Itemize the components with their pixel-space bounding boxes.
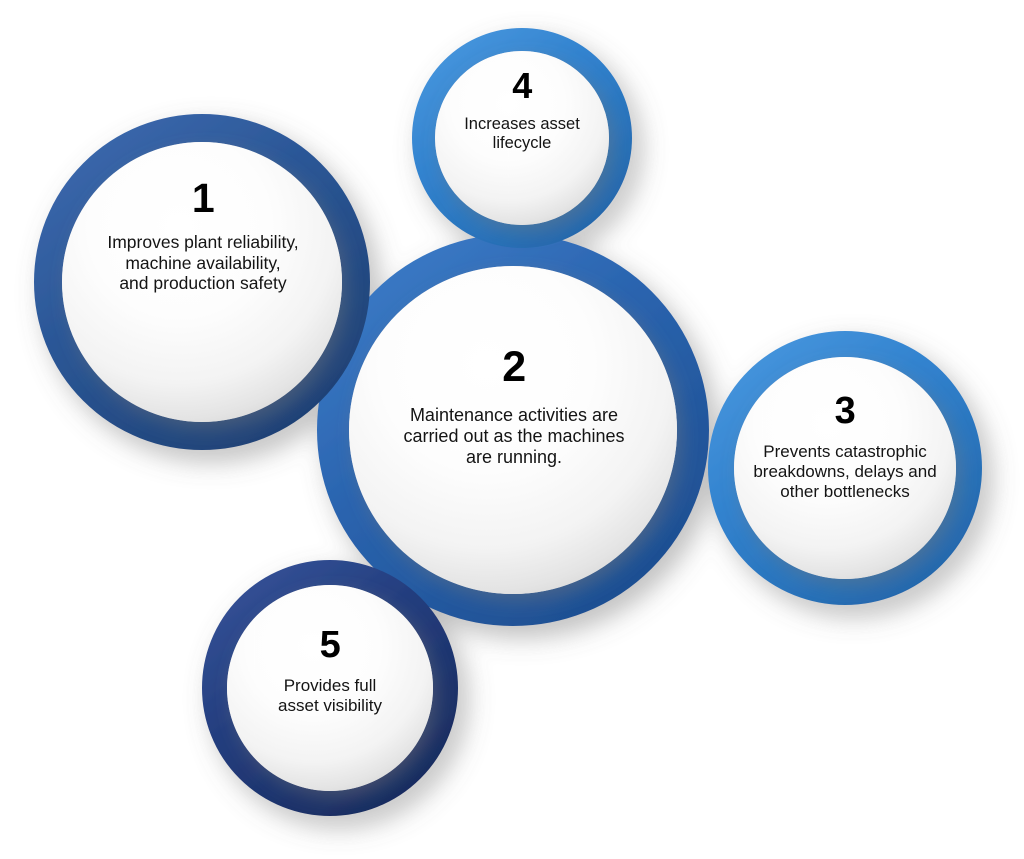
node-2-label-line: carried out as the machines	[358, 426, 670, 447]
node-3-content: 3 Prevents catastrophic breakdowns, dela…	[723, 392, 967, 502]
node-2-label-line: Maintenance activities are	[358, 405, 670, 426]
node-4-label-line: lifecycle	[425, 134, 619, 153]
node-3-label-line: breakdowns, delays and	[723, 462, 967, 482]
node-5-content: 5 Provides full asset visibility	[218, 626, 442, 716]
node-1-label: Improves plant reliability, machine avai…	[62, 232, 344, 294]
node-1-label-line: machine availability,	[62, 253, 344, 274]
node-4-label: Increases asset lifecycle	[425, 115, 619, 154]
node-5-number: 5	[218, 626, 442, 664]
node-2-label: Maintenance activities are carried out a…	[358, 405, 670, 469]
node-3-label: Prevents catastrophic breakdowns, delays…	[723, 442, 967, 502]
node-3-label-line: other bottlenecks	[723, 482, 967, 502]
node-5-label: Provides full asset visibility	[218, 676, 442, 716]
node-3-label-line: Prevents catastrophic	[723, 442, 967, 462]
node-4-content: 4 Increases asset lifecycle	[425, 68, 619, 154]
node-4-number: 4	[425, 68, 619, 104]
node-2-number: 2	[358, 346, 670, 389]
node-2-content: 2 Maintenance activities are carried out…	[358, 346, 670, 469]
node-1-label-line: Improves plant reliability,	[62, 232, 344, 253]
node-2-label-line: are running.	[358, 447, 670, 468]
node-3-number: 3	[723, 392, 967, 430]
node-1-content: 1 Improves plant reliability, machine av…	[62, 178, 344, 294]
node-1-label-line: and production safety	[62, 273, 344, 294]
node-4-label-line: Increases asset	[425, 115, 619, 134]
node-5-label-line: asset visibility	[218, 696, 442, 716]
node-5-label-line: Provides full	[218, 676, 442, 696]
node-1-number: 1	[62, 178, 344, 219]
diagram-canvas: 1 Improves plant reliability, machine av…	[0, 0, 1024, 859]
